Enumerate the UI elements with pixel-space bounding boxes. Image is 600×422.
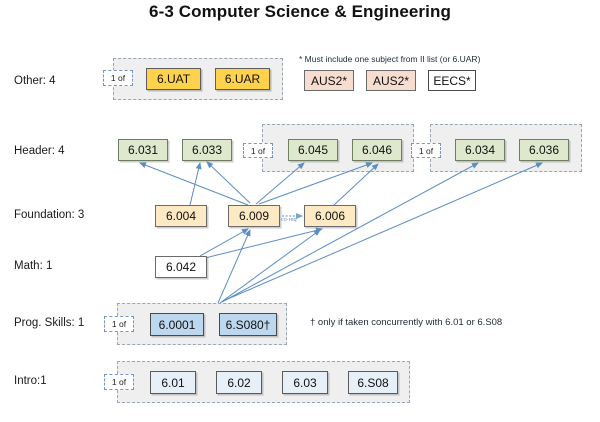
arrow-6.009-to-6.031 xyxy=(140,163,248,205)
oneof-hdr1: 1 of xyxy=(243,143,273,158)
row-label-4: Prog. Skills: 1 xyxy=(14,318,84,330)
arrow-prog-to-6.006 xyxy=(220,230,320,303)
row-label-0: Other: 4 xyxy=(14,76,56,88)
arrow-6.009-to-6.033 xyxy=(207,162,250,203)
row-label-2: Foundation: 3 xyxy=(14,210,84,222)
course-box-aus2a[interactable]: AUS2* xyxy=(304,70,354,91)
oneof-other: 1 of xyxy=(103,70,133,86)
course-box-c6004[interactable]: 6.004 xyxy=(155,205,207,227)
course-box-uar[interactable]: 6.UAR xyxy=(215,68,270,90)
course-box-c6031[interactable]: 6.031 xyxy=(118,139,168,161)
course-box-uat[interactable]: 6.UAT xyxy=(146,68,201,90)
row-label-3: Math: 1 xyxy=(14,261,52,273)
course-box-c6033[interactable]: 6.033 xyxy=(182,139,232,161)
course-box-c6009[interactable]: 6.009 xyxy=(228,205,280,227)
course-box-cs080[interactable]: 6.S080† xyxy=(219,313,277,336)
arrow-6.042-to-6.009 xyxy=(200,229,248,256)
arrow-prog-to-6.009 xyxy=(218,230,250,303)
course-box-c603[interactable]: 6.03 xyxy=(282,371,328,394)
coreq-label: co-req xyxy=(281,217,297,223)
oneof-hdr2: 1 of xyxy=(411,143,441,158)
course-box-c601[interactable]: 6.01 xyxy=(150,371,196,394)
course-box-eecs[interactable]: EECS* xyxy=(428,70,476,91)
course-box-c6036[interactable]: 6.036 xyxy=(519,139,569,161)
arrow-prog-to-6.034 xyxy=(222,163,478,302)
prereq-arrows xyxy=(140,162,542,303)
footnote-dagger: † only if taken concurrently with 6.01 o… xyxy=(310,318,502,328)
course-box-cs08[interactable]: 6.S08 xyxy=(348,371,398,394)
course-box-c6046[interactable]: 6.046 xyxy=(352,139,402,161)
page-title: 6-3 Computer Science & Engineering xyxy=(0,2,600,22)
oneof-prog: 1 of xyxy=(104,316,134,332)
course-box-c6045[interactable]: 6.045 xyxy=(288,139,338,161)
arrow-6.004-to-6.033 xyxy=(190,163,200,205)
course-box-c602[interactable]: 6.02 xyxy=(216,371,262,394)
course-box-c60001[interactable]: 6.0001 xyxy=(150,313,204,336)
course-box-c6042[interactable]: 6.042 xyxy=(155,256,207,278)
diagram-canvas: 6-3 Computer Science & Engineering 1 of1… xyxy=(0,0,600,422)
oneof-intro: 1 of xyxy=(104,374,134,390)
row-label-5: Intro:1 xyxy=(14,376,47,388)
course-box-aus2b[interactable]: AUS2* xyxy=(366,70,416,91)
footnote-star: * Must include one subject from II list … xyxy=(299,55,480,64)
course-box-c6034[interactable]: 6.034 xyxy=(455,139,505,161)
row-label-1: Header: 4 xyxy=(14,146,65,158)
course-box-c6006[interactable]: 6.006 xyxy=(304,205,356,227)
arrow-prog-to-6.036 xyxy=(223,163,542,301)
arrow-6.042-to-6.006 xyxy=(205,229,322,258)
